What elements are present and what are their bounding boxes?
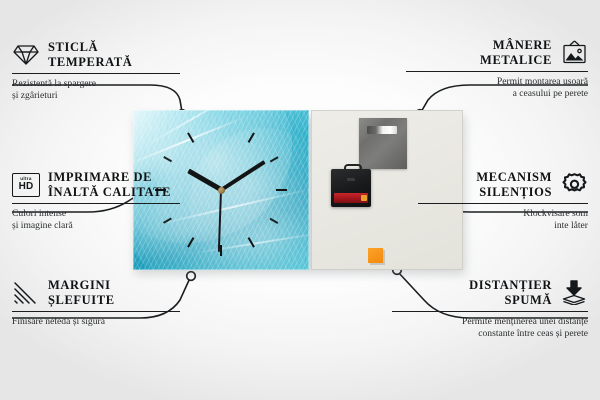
- battery-plus-terminal: [361, 195, 367, 201]
- callout-rule: [12, 311, 180, 312]
- callout-head: MECANISM SILENȚIOS: [418, 170, 588, 200]
- callout-metal-hooks: MÂNERE METALICE Permit montarea ușoară a…: [406, 38, 588, 100]
- metal-hanger-plate: [359, 118, 407, 169]
- polished-edge-icon: [12, 280, 40, 306]
- ultra-hd-icon-main-text: HD: [19, 182, 34, 192]
- quartz-movement: [331, 164, 371, 207]
- callout-rule: [406, 71, 588, 72]
- callout-silent-mechanism: MECANISM SILENȚIOS Klockvisare som inte …: [418, 170, 588, 232]
- movement-shaft: [347, 178, 355, 181]
- callout-title: DISTANȚIER SPUMĂ: [469, 278, 552, 308]
- hanger-keyhole: [367, 126, 397, 134]
- clock-tick: [220, 245, 222, 256]
- aa-battery: [334, 193, 368, 203]
- callout-polished-edges: MARGINI ȘLEFUITE Finisare netedă și sigu…: [12, 278, 180, 328]
- callout-title: MÂNERE METALICE: [480, 38, 552, 68]
- callout-title: MECANISM SILENȚIOS: [476, 170, 552, 200]
- callout-rule: [12, 203, 180, 204]
- callout-title: IMPRIMARE DE ÎNALTĂ CALITATE: [48, 170, 171, 200]
- callout-head: MARGINI ȘLEFUITE: [12, 278, 180, 308]
- callout-head: DISTANȚIER SPUMĂ: [392, 278, 588, 308]
- callout-head: STICLĂ TEMPERATĂ: [12, 40, 180, 70]
- product-photo: [133, 110, 463, 270]
- callout-desc: Permit montarea ușoară a ceasului pe per…: [406, 76, 588, 100]
- diamond-icon: [12, 42, 40, 68]
- callout-title: MARGINI ȘLEFUITE: [48, 278, 115, 308]
- picture-frame-hanger-icon: [560, 40, 588, 66]
- callout-rule: [418, 203, 588, 204]
- callout-rule: [392, 311, 588, 312]
- callout-tempered-glass: STICLĂ TEMPERATĂ Rezistentă la spargere …: [12, 40, 180, 102]
- callout-desc: Klockvisare som inte låter: [418, 208, 588, 232]
- callout-foam-spacer: DISTANȚIER SPUMĂ Permite menținerea unei…: [392, 278, 588, 340]
- ultra-hd-icon: ultra HD: [12, 172, 40, 198]
- foam-spacer: [368, 248, 383, 263]
- gear-icon: [560, 172, 588, 198]
- callout-desc: Rezistentă la spargere și zgârieturi: [12, 78, 180, 102]
- callout-head: ultra HD IMPRIMARE DE ÎNALTĂ CALITATE: [12, 170, 180, 200]
- callout-desc: Culori intense și imagine clară: [12, 208, 180, 232]
- callout-high-quality-print: ultra HD IMPRIMARE DE ÎNALTĂ CALITATE Cu…: [12, 170, 180, 232]
- callout-head: MÂNERE METALICE: [406, 38, 588, 68]
- clock-tick: [276, 189, 287, 191]
- stack-arrow-down-icon: [560, 280, 588, 306]
- callout-rule: [12, 73, 180, 74]
- infographic-canvas: STICLĂ TEMPERATĂ Rezistentă la spargere …: [0, 0, 600, 400]
- callout-desc: Permite menținerea unei distanțe constan…: [392, 316, 588, 340]
- clock-hand-cap: [218, 187, 225, 194]
- callout-desc: Finisare netedă și sigură: [12, 316, 180, 328]
- callout-title: STICLĂ TEMPERATĂ: [48, 40, 132, 70]
